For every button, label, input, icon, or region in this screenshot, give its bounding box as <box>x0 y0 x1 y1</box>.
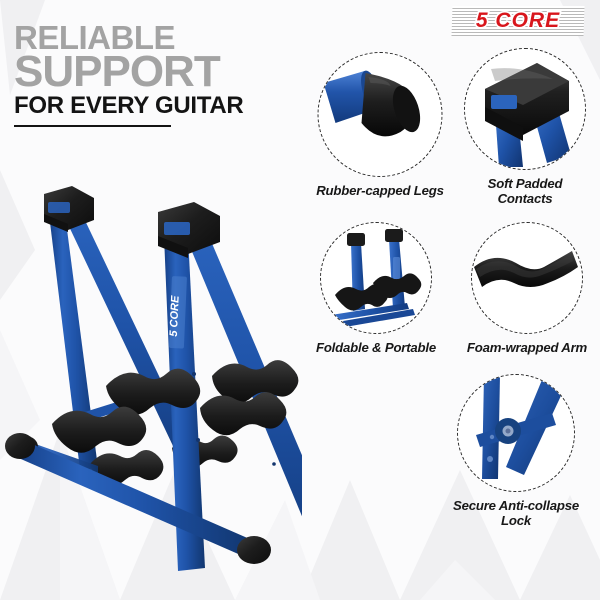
rubber-cap-leg-icon <box>319 53 443 177</box>
feature-caption-line-1: Secure Anti-collapse <box>453 498 579 513</box>
feature-caption: Foam-wrapped Arm <box>467 340 587 355</box>
headline-underline <box>14 125 171 127</box>
logo-text: 5 CORE <box>452 6 584 36</box>
anti-collapse-lock-icon <box>458 375 575 492</box>
feature-image-bubble <box>457 374 575 492</box>
feature-caption-line-2: Contacts <box>498 191 553 206</box>
headline-line-3: FOR EVERY GUITAR <box>14 94 243 118</box>
feature-caption-line-1: Soft Padded <box>488 176 563 191</box>
feature-caption: Foldable & Portable <box>316 340 436 355</box>
feature-image-bubble <box>464 48 586 170</box>
folded-stand-icon <box>321 223 432 334</box>
feature-image-bubble <box>318 52 443 177</box>
padded-contact-icon <box>465 49 586 170</box>
feature-caption-line-2: Lock <box>501 513 531 528</box>
foam-arm-icon <box>472 223 583 334</box>
feature-caption: Rubber-capped Legs <box>316 183 444 198</box>
product-brand-label: 5 CORE <box>168 295 182 337</box>
feature-image-bubble <box>320 222 432 334</box>
headline-block: RELIABLE SUPPORT FOR EVERY GUITAR <box>14 22 243 127</box>
feature-caption: Secure Anti-collapse Lock <box>441 498 591 529</box>
headline-line-2: SUPPORT <box>14 51 243 93</box>
feature-image-bubble <box>471 222 583 334</box>
brand-logo: 5 CORE <box>452 6 584 36</box>
feature-caption: Soft Padded Contacts <box>450 176 600 207</box>
product-image-guitar-stand: 5 CORE <box>2 168 302 588</box>
